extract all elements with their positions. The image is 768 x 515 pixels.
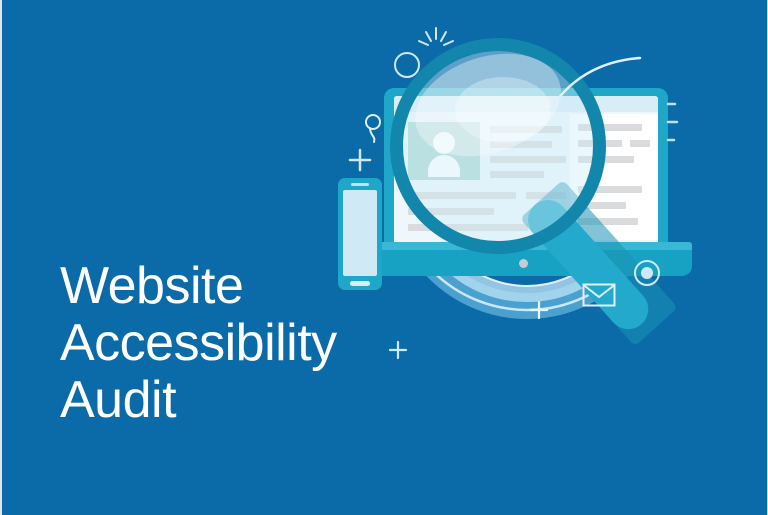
- title-line-2: Accessibility: [60, 315, 420, 372]
- laptop-trackpad-dot: [519, 259, 528, 268]
- plus-icon: [527, 298, 551, 322]
- title-line-3: Audit: [60, 372, 420, 429]
- sparkle-burst-icon: [416, 26, 456, 56]
- small-magnifier-icon: [360, 112, 386, 144]
- plus-icon: [346, 146, 374, 174]
- target-ring-icon: [634, 260, 660, 286]
- text-line: [630, 140, 650, 147]
- page-title: Website Accessibility Audit: [60, 258, 420, 429]
- ring-outline-icon: [394, 52, 420, 78]
- target-ring-dot: [641, 267, 653, 279]
- accessibility-audit-banner: Website Accessibility Audit: [0, 0, 768, 515]
- arc-stroke-icon: [544, 56, 644, 112]
- phone-speaker: [351, 183, 369, 186]
- dash-marks-icon: [666, 100, 680, 156]
- envelope-icon: [582, 282, 616, 308]
- title-line-1: Website: [60, 258, 420, 315]
